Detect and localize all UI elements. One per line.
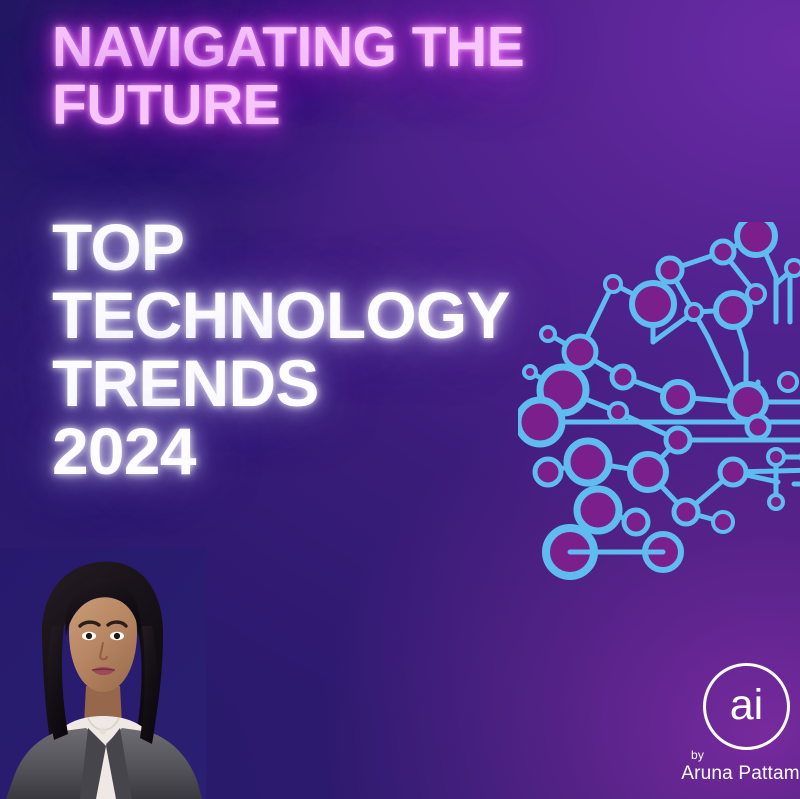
presenter-portrait [0,548,206,799]
brand-logo[interactable]: ai by Aruna Pattam [681,658,800,799]
logo-by-label: by [691,748,704,762]
logo-author-name: Aruna Pattam [681,763,800,785]
logo-ai-mark: ai [706,666,787,747]
logo-circle-icon: ai [703,663,790,750]
eyebrow-headline: NAVIGATING THE FUTURE [52,18,652,134]
poster-canvas: .ln{stroke:#5FBCF0;stroke-width:5;fill:n… [0,0,800,799]
page-title: TOP TECHNOLOGY TRENDS 2024 [52,214,612,486]
